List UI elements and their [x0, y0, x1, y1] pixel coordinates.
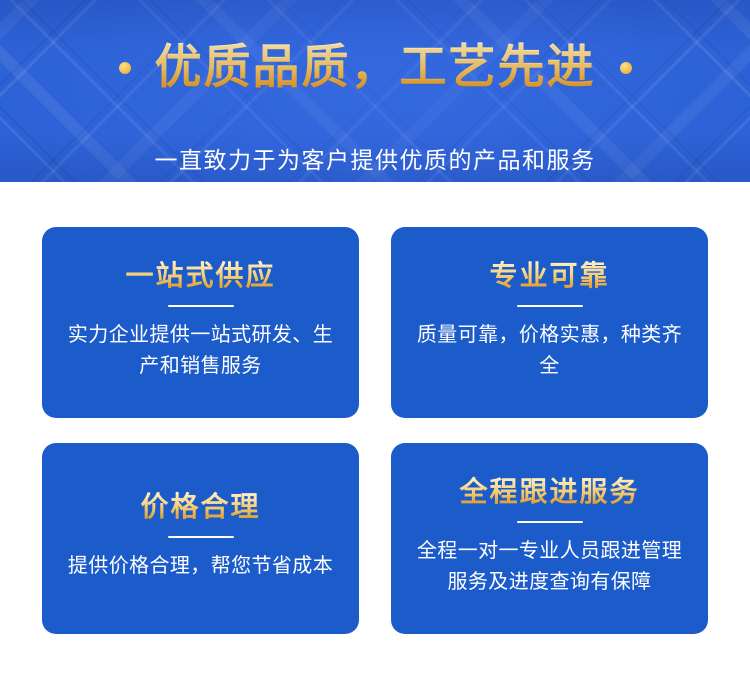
gold-dot-left-icon: [119, 62, 131, 74]
card-divider: [517, 305, 583, 307]
gold-dot-right-icon: [620, 62, 632, 74]
feature-card-full-process-service[interactable]: 全程跟进服务 全程一对一专业人员跟进管理服务及进度查询有保障: [391, 443, 708, 634]
card-divider: [517, 521, 583, 523]
banner-subtitle: 一直致力于为客户提供优质的产品和服务: [155, 141, 596, 175]
feature-card-grid: 一站式供应 实力企业提供一站式研发、生产和销售服务 专业可靠 质量可靠，价格实惠…: [42, 227, 708, 634]
card-description: 全程一对一专业人员跟进管理服务及进度查询有保障: [411, 536, 689, 597]
card-title: 价格合理: [140, 491, 260, 522]
card-divider: [168, 536, 234, 538]
card-title: 一站式供应: [125, 260, 275, 291]
card-description: 实力企业提供一站式研发、生产和销售服务: [62, 320, 340, 381]
card-divider: [168, 305, 234, 307]
card-title: 专业可靠: [489, 260, 609, 291]
feature-card-one-stop-supply[interactable]: 一站式供应 实力企业提供一站式研发、生产和销售服务: [42, 227, 359, 418]
banner-content: 优质品质，工艺先进 一直致力于为客户提供优质的产品和服务: [0, 0, 750, 182]
banner-title: 优质品质，工艺先进: [155, 42, 596, 93]
card-title: 全程跟进服务: [459, 476, 639, 507]
feature-card-professional-reliable[interactable]: 专业可靠 质量可靠，价格实惠，种类齐全: [391, 227, 708, 418]
banner-title-row: 优质品质，工艺先进: [119, 11, 632, 125]
feature-card-reasonable-price[interactable]: 价格合理 提供价格合理，帮您节省成本: [42, 443, 359, 634]
header-banner: 优质品质，工艺先进 一直致力于为客户提供优质的产品和服务: [0, 0, 750, 182]
promo-banner-page: 优质品质，工艺先进 一直致力于为客户提供优质的产品和服务 一站式供应 实力企业提…: [0, 0, 750, 674]
card-description: 提供价格合理，帮您节省成本: [68, 551, 333, 581]
card-description: 质量可靠，价格实惠，种类齐全: [411, 320, 689, 381]
